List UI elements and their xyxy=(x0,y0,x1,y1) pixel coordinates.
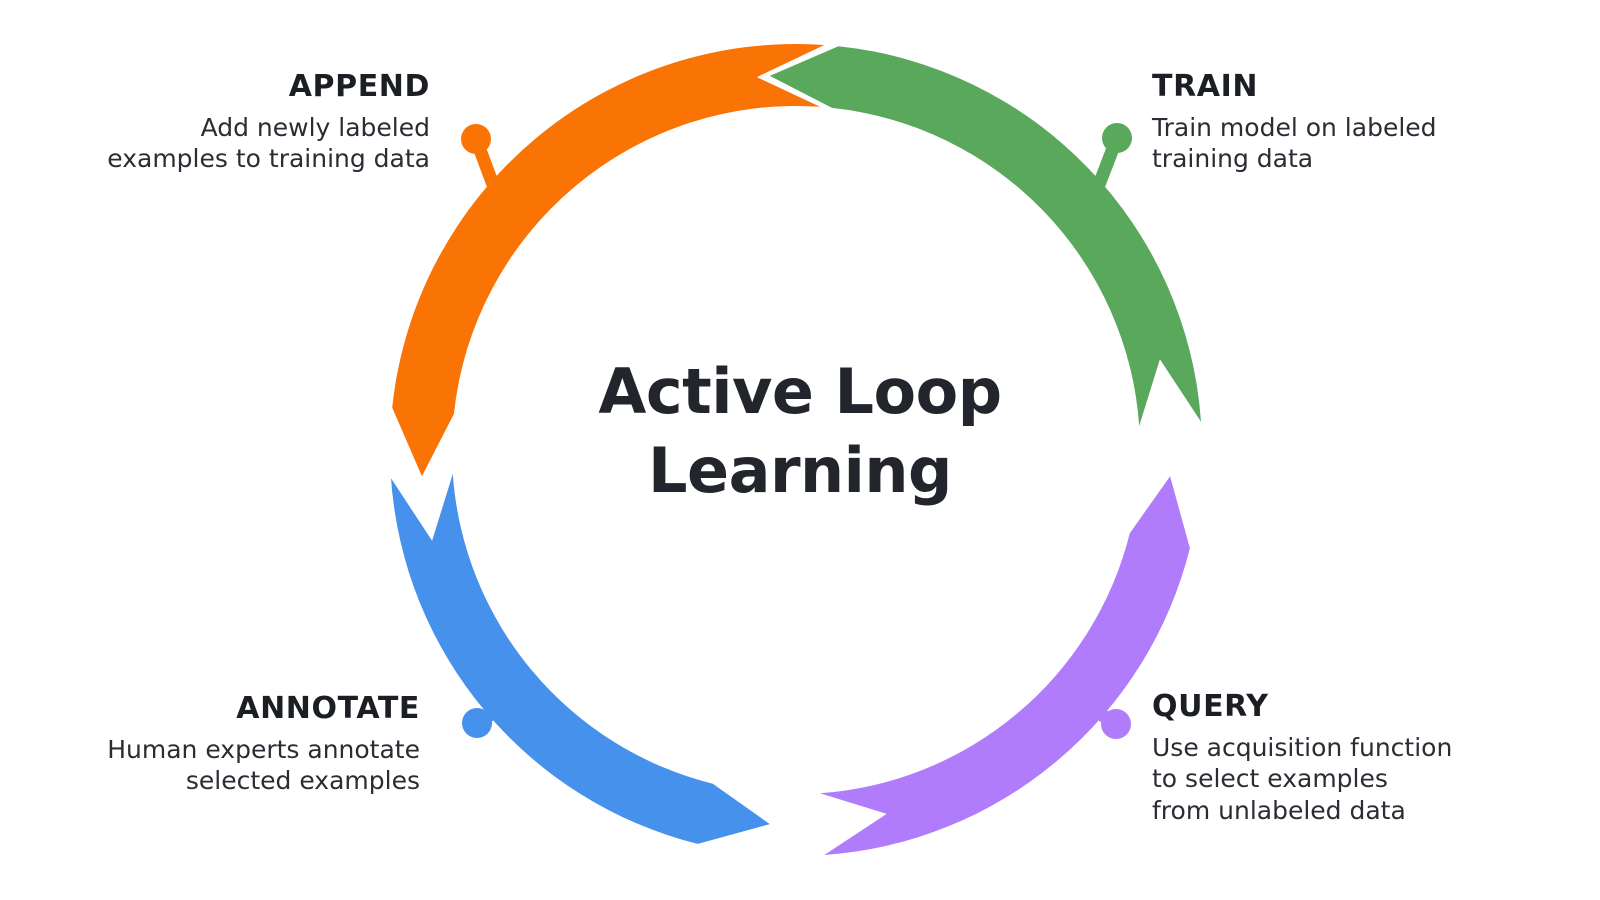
callout-query-desc-line-3: from unlabeled data xyxy=(1152,795,1572,826)
callout-query-desc-line-2: to select examples xyxy=(1152,763,1572,794)
callout-append-title: APPEND xyxy=(30,70,430,103)
callout-query[interactable]: QUERY Use acquisition function to select… xyxy=(1152,690,1572,826)
callout-train[interactable]: TRAIN Train model on labeled training da… xyxy=(1152,70,1572,175)
callout-annotate-desc-line-1: Human experts annotate xyxy=(20,734,420,765)
diagram-canvas: Active Loop Learning APPEND Add newly la… xyxy=(0,0,1600,900)
segment-query-arc[interactable] xyxy=(820,476,1190,855)
callout-train-desc-line-2: training data xyxy=(1152,143,1572,174)
callout-query-title: QUERY xyxy=(1152,690,1572,723)
query-connector-dot xyxy=(1101,709,1131,739)
callout-train-desc-line-1: Train model on labeled xyxy=(1152,112,1572,143)
callout-annotate-description: Human experts annotate selected examples xyxy=(20,734,420,797)
callout-annotate[interactable]: ANNOTATE Human experts annotate selected… xyxy=(20,692,420,797)
segment-annotate-arc[interactable] xyxy=(391,474,770,844)
callout-annotate-desc-line-2: selected examples xyxy=(20,765,420,796)
segment-annotate[interactable] xyxy=(391,474,770,844)
append-connector-dot xyxy=(461,124,491,154)
callout-append-desc-line-2: examples to training data xyxy=(30,143,430,174)
callout-append-description: Add newly labeled examples to training d… xyxy=(30,112,430,175)
callout-append-desc-line-1: Add newly labeled xyxy=(30,112,430,143)
center-title-line-1: Active Loop xyxy=(560,352,1040,431)
segment-query[interactable] xyxy=(820,476,1190,855)
center-title-line-2: Learning xyxy=(560,431,1040,510)
annotate-connector-dot xyxy=(462,708,492,738)
callout-append[interactable]: APPEND Add newly labeled examples to tra… xyxy=(30,70,430,175)
callout-annotate-title: ANNOTATE xyxy=(20,692,420,725)
center-title: Active Loop Learning xyxy=(560,352,1040,511)
callout-query-desc-line-1: Use acquisition function xyxy=(1152,732,1572,763)
callout-query-description: Use acquisition function to select examp… xyxy=(1152,732,1572,826)
train-connector-dot xyxy=(1102,123,1132,153)
callout-train-title: TRAIN xyxy=(1152,70,1572,103)
callout-train-description: Train model on labeled training data xyxy=(1152,112,1572,175)
